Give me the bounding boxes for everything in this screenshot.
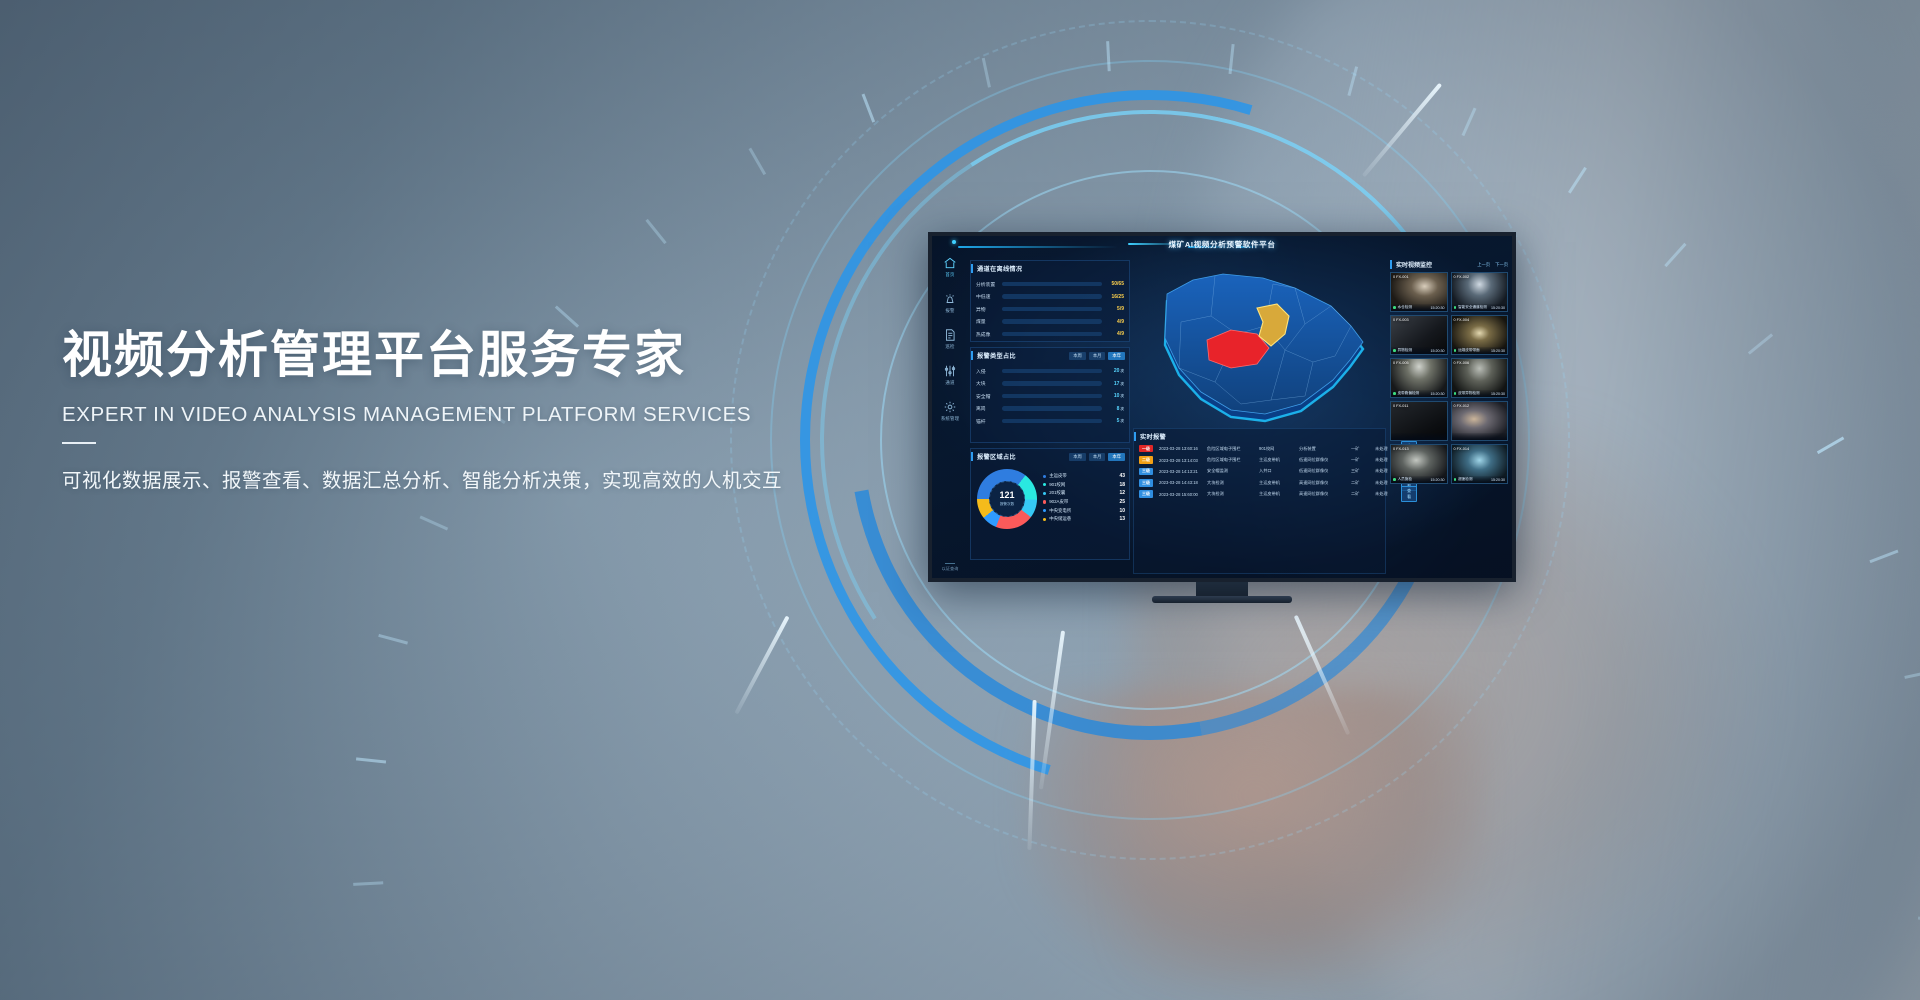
video-tile[interactable]: 0 FX-003异物检测15:20:30 xyxy=(1390,315,1448,355)
status-badge: 三级 xyxy=(1139,490,1153,498)
alarm-level-cell: 三级 xyxy=(1139,468,1159,476)
alarm-type-value: 8次 xyxy=(1102,406,1124,412)
legend-color-dot xyxy=(1043,509,1046,512)
video-camera-id: 0 FX-006 xyxy=(1454,361,1470,365)
video-tile-footer: 水仓检测15:20:30 xyxy=(1391,304,1447,311)
channel-online-track xyxy=(1002,294,1102,299)
alarm-type-track xyxy=(1002,369,1102,374)
legend-value: 13 xyxy=(1111,516,1125,522)
alarm-type-row: 离岗8次 xyxy=(971,405,1129,412)
alarm-location-cell: 主运皮带机 xyxy=(1259,491,1299,497)
alarm-device-cell: 低速网位群像仪 xyxy=(1299,457,1351,463)
video-timestamp: 15:20:30 xyxy=(1431,478,1445,482)
alarm-type-label: 大块 xyxy=(976,380,1002,387)
alarm-location-cell: 主运皮带机 xyxy=(1259,457,1299,463)
legend-label: 主运皮带 xyxy=(1049,473,1111,479)
alarm-type-label: 安全帽 xyxy=(976,393,1002,400)
table-row: 三级2023-03-28 15:60:00大块检测主运皮带机高速网位群像仪二矿未… xyxy=(1134,489,1385,500)
map-svg[interactable] xyxy=(1145,264,1375,424)
channel-online-label: 中低速 xyxy=(976,293,1002,300)
sidebar-label-system: 系统管理 xyxy=(932,416,968,422)
alarm-device-cell: 高速网位群像仪 xyxy=(1299,491,1351,497)
hud-tick xyxy=(749,148,767,175)
status-dot-icon xyxy=(1393,392,1396,395)
alarm-type-track xyxy=(1002,419,1102,424)
channel-online-track xyxy=(1002,332,1102,337)
monitor-bezel: 煤矿AI视频分析预警软件平台 首页 xyxy=(928,232,1516,582)
table-row: 三级2023-03-28 14:43:18大块检测主运皮带机高速网位群像仪二矿未… xyxy=(1134,477,1385,488)
region-map[interactable] xyxy=(1133,260,1386,425)
channel-icon xyxy=(943,364,957,378)
dashboard-screen: 煤矿AI视频分析预警软件平台 首页 xyxy=(932,236,1512,578)
alarm-device-cell: 分析装置 xyxy=(1299,446,1351,452)
alarm-mine-cell: 二矿 xyxy=(1351,480,1375,486)
channel-online-row: 异物5/9 xyxy=(971,306,1129,313)
left-panel-column: 通道在离线情况 分析装置50/65中低速16/25异物5/9煤量4/9热成像4/… xyxy=(970,260,1130,574)
sidebar-label-channel: 通道 xyxy=(932,380,968,386)
channel-online-track xyxy=(1002,282,1102,287)
alarm-type-label: 入侵 xyxy=(976,368,1002,375)
video-tag: 异物检测 xyxy=(1393,348,1412,353)
panel-realtime-alarm: 实时报警 一级2023-03-28 13:60:16危险区域电子围栏901绞网分… xyxy=(1133,428,1386,574)
hud-tick xyxy=(378,634,408,645)
hero-subtitle: EXPERT IN VIDEO ANALYSIS MANAGEMENT PLAT… xyxy=(62,403,822,427)
table-row: 三级2023-03-28 14:13:21安全帽监测入井口低速网位群像仪三矿未处… xyxy=(1134,466,1385,477)
channel-online-row: 中低速16/25 xyxy=(971,293,1129,300)
tab-alarm-type-本周[interactable]: 本周 xyxy=(1069,352,1086,360)
hud-tick xyxy=(645,219,666,244)
panel-header-alarm-type: 报警类型占比 本周本月本年 xyxy=(971,348,1129,362)
video-camera-id: 0 FX-003 xyxy=(1393,318,1409,322)
video-tile-footer: 皮带跑偏检测15:20:30 xyxy=(1391,390,1447,397)
alarm-type-value: 5次 xyxy=(1102,418,1124,424)
alarm-time-cell: 2023-03-28 14:13:21 xyxy=(1159,469,1207,474)
video-tag: 超速检测 xyxy=(1454,477,1473,482)
status-dot-icon xyxy=(1393,478,1396,481)
legend-value: 12 xyxy=(1111,490,1125,496)
video-camera-id: 0 FX-011 xyxy=(1393,404,1408,408)
sidebar-item-system[interactable]: 系统管理 xyxy=(932,400,968,422)
hero-title: 视频分析管理平台服务专家 xyxy=(62,326,822,385)
video-tile[interactable]: 0 FX-005皮带跑偏检测15:20:30 xyxy=(1390,358,1448,398)
tab-alarm-area-本月[interactable]: 本月 xyxy=(1089,453,1106,461)
video-camera-id: 0 FX-014 xyxy=(1454,447,1470,451)
legend-color-dot xyxy=(1043,500,1046,503)
alarm-type-cell: 危险区域电子围栏 xyxy=(1207,446,1259,452)
alarm-device-cell: 高速网位群像仪 xyxy=(1299,480,1351,486)
video-tile-footer: 智能安全通道检测15:20:30 xyxy=(1452,304,1508,311)
alarm-type-value: 17次 xyxy=(1102,381,1124,387)
channel-online-row: 煤量4/9 xyxy=(971,318,1129,325)
donut-legend-item: 201绞囊12 xyxy=(1043,490,1125,496)
video-tag: 皮带异物检测 xyxy=(1454,391,1480,396)
alarm-time-cell: 2023-03-28 15:60:00 xyxy=(1159,492,1207,497)
video-camera-id: 0 FX-001 xyxy=(1393,275,1409,279)
video-tile[interactable]: 0 FX-013人员施检15:20:30 xyxy=(1390,444,1448,484)
table-row: 一级2023-03-28 13:60:16危险区域电子围栏901绞网分析装置一矿… xyxy=(1134,443,1385,454)
panel-alarm-area: 报警区域占比 本周本月本年 121 报警次数 主运皮带43901绞网18201绞… xyxy=(970,448,1130,560)
channel-online-track xyxy=(1002,319,1102,324)
legend-label: 901绞网 xyxy=(1049,482,1111,488)
video-tile-footer xyxy=(1391,433,1447,440)
panel-title-realtime-alarm: 实时报警 xyxy=(1134,432,1166,441)
right-video-column: 实时视频监控 上一页 下一页 0 FX-001水仓检测15:20:300 FX-… xyxy=(1390,260,1508,574)
legend-label: 中央变电所 xyxy=(1049,508,1111,514)
video-next-page-button[interactable]: 下一页 xyxy=(1495,262,1508,268)
video-tile-footer: 运煤皮带带面15:20:30 xyxy=(1452,347,1508,354)
video-camera-id: 0 FX-013 xyxy=(1393,447,1409,451)
status-badge: 三级 xyxy=(1139,479,1153,487)
panel-channel-online: 通道在离线情况 分析装置50/65中低速16/25异物5/9煤量4/9热成像4/… xyxy=(970,260,1130,342)
alarm-location-cell: 入井口 xyxy=(1259,468,1299,474)
gear-icon xyxy=(943,400,957,414)
channel-online-label: 煤量 xyxy=(976,318,1002,325)
table-row: 二级2023-03-28 13:14:03危险区域电子围栏主运皮带机低速网位群像… xyxy=(1134,454,1385,465)
alarm-type-track xyxy=(1002,394,1102,399)
sidebar-footer[interactable]: 以证查询 xyxy=(932,563,968,572)
hero-description: 可视化数据展示、报警查看、数据汇总分析、智能分析决策，实现高效的人机交互 xyxy=(62,464,822,493)
tab-alarm-area-本周[interactable]: 本周 xyxy=(1069,453,1086,461)
video-tile[interactable]: 0 FX-006皮带异物检测15:20:30 xyxy=(1451,358,1509,398)
legend-value: 25 xyxy=(1111,499,1125,505)
video-tag: 皮带跑偏检测 xyxy=(1393,391,1419,396)
sidebar-item-alarm[interactable]: 报警 xyxy=(932,292,968,314)
channel-online-label: 异物 xyxy=(976,306,1002,313)
legend-label: 中央储运巷 xyxy=(1049,516,1111,522)
status-dot-icon xyxy=(1454,306,1457,309)
video-tile[interactable]: 0 FX-001水仓检测15:20:30 xyxy=(1390,272,1448,312)
alarm-icon xyxy=(943,292,957,306)
channel-online-value: 4/9 xyxy=(1102,319,1124,325)
alarm-type-row: 大块17次 xyxy=(971,380,1129,387)
alarm-type-cell: 危险区域电子围栏 xyxy=(1207,457,1259,463)
channel-online-value: 16/25 xyxy=(1102,294,1124,300)
donut-chart: 121 报警次数 xyxy=(977,469,1037,529)
tab-alarm-type-本月[interactable]: 本月 xyxy=(1089,352,1106,360)
hud-streak-1 xyxy=(734,615,789,714)
alarm-type-track xyxy=(1002,406,1102,411)
hud-tick xyxy=(555,305,579,327)
legend-color-dot xyxy=(1043,475,1046,478)
donut-total-caption: 报警次数 xyxy=(1000,502,1014,507)
channel-online-label: 分析装置 xyxy=(976,281,1002,288)
alarm-area-tab-group[interactable]: 本周本月本年 xyxy=(1069,453,1125,461)
panel-title-video: 实时视频监控 xyxy=(1390,260,1432,269)
video-tag: 智能安全通道检测 xyxy=(1454,305,1487,310)
hud-tick xyxy=(1106,41,1111,71)
video-camera-id: 0 FX-002 xyxy=(1454,275,1470,279)
alarm-level-cell: 三级 xyxy=(1139,490,1159,498)
status-dot-icon xyxy=(1454,349,1457,352)
video-timestamp: 15:20:30 xyxy=(1491,306,1505,310)
donut-legend-item: 主运皮带43 xyxy=(1043,473,1125,479)
video-timestamp: 15:20:30 xyxy=(1491,478,1505,482)
dashboard-title: 煤矿AI视频分析预警软件平台 xyxy=(1168,239,1275,250)
dashboard-sidebar[interactable]: 首页 报警 巡检 xyxy=(932,242,968,578)
donut-legend-item: 中央变电所10 xyxy=(1043,508,1125,514)
panel-title-channel-online: 通道在离线情况 xyxy=(971,264,1022,273)
tab-alarm-type-本年[interactable]: 本年 xyxy=(1108,352,1125,360)
video-tile[interactable]: 0 FX-011 xyxy=(1390,401,1448,441)
sidebar-label-inspection: 巡检 xyxy=(932,344,968,350)
alarm-mine-cell: 一矿 xyxy=(1351,446,1375,452)
video-camera-id: 0 FX-012 xyxy=(1454,404,1470,408)
alarm-mine-cell: 三矿 xyxy=(1351,468,1375,474)
alarm-type-row: 锚杆5次 xyxy=(971,418,1129,425)
status-badge: 一级 xyxy=(1139,445,1153,453)
alarm-type-tab-group[interactable]: 本周本月本年 xyxy=(1069,352,1125,360)
channel-online-value: 50/65 xyxy=(1102,281,1124,287)
channel-online-row: 热成像4/9 xyxy=(971,331,1129,338)
sidebar-label-alarm: 报警 xyxy=(932,308,968,314)
panel-title-alarm-area: 报警区域占比 xyxy=(971,452,1016,461)
channel-online-value: 4/9 xyxy=(1102,331,1124,337)
donut-total-value: 121 xyxy=(999,491,1014,500)
center-column: 实时报警 一级2023-03-28 13:60:16危险区域电子围栏901绞网分… xyxy=(1133,260,1386,574)
alarm-level-cell: 二级 xyxy=(1139,456,1159,464)
video-tile-footer: 皮带异物检测15:20:30 xyxy=(1452,390,1508,397)
hero-banner: 视频分析管理平台服务专家 EXPERT IN VIDEO ANALYSIS MA… xyxy=(0,0,1920,1000)
status-badge: 三级 xyxy=(1139,468,1153,476)
alarm-mine-cell: 二矿 xyxy=(1351,491,1375,497)
video-tag: 人员施检 xyxy=(1393,477,1412,482)
video-tile[interactable]: 0 FX-004运煤皮带带面15:20:30 xyxy=(1451,315,1509,355)
alarm-area-chart-wrap: 121 报警次数 主运皮带43901绞网18201绞囊12902A皮带25中央变… xyxy=(971,463,1129,529)
video-timestamp: 15:20:30 xyxy=(1431,392,1445,396)
alarm-type-cell: 安全帽监测 xyxy=(1207,468,1259,474)
legend-color-dot xyxy=(1043,518,1046,521)
legend-value: 18 xyxy=(1111,482,1125,488)
alarm-type-row: 入侵20次 xyxy=(971,368,1129,375)
legend-label: 902A皮带 xyxy=(1049,499,1111,505)
alarm-type-bar-list: 入侵20次大块17次安全帽10次离岗8次锚杆5次 xyxy=(971,368,1129,425)
background-person-hand xyxy=(1020,690,1490,990)
video-tile[interactable]: 0 FX-012 xyxy=(1451,401,1509,441)
status-badge: 二级 xyxy=(1139,456,1153,464)
hud-tick xyxy=(356,757,386,763)
video-tag: 水仓检测 xyxy=(1393,305,1412,310)
hero-text-block: 视频分析管理平台服务专家 EXPERT IN VIDEO ANALYSIS MA… xyxy=(62,326,822,493)
sidebar-item-home[interactable]: 首页 xyxy=(932,256,968,278)
alarm-type-value: 10次 xyxy=(1102,393,1124,399)
video-camera-id: 0 FX-004 xyxy=(1454,318,1470,322)
legend-color-dot xyxy=(1043,483,1046,486)
video-pagination[interactable]: 上一页 下一页 xyxy=(1477,262,1508,268)
alarm-time-cell: 2023-03-28 13:14:03 xyxy=(1159,458,1207,463)
monitor-stand-base xyxy=(1152,596,1292,603)
alarm-type-value: 20次 xyxy=(1102,368,1124,374)
sidebar-footer-label: 以证查询 xyxy=(932,566,968,572)
hero-divider xyxy=(62,442,96,444)
hud-tick xyxy=(353,881,383,886)
alarm-location-cell: 主运皮带机 xyxy=(1259,480,1299,486)
channel-online-bar-list: 分析装置50/65中低速16/25异物5/9煤量4/9热成像4/9 xyxy=(971,281,1129,338)
alarm-type-cell: 大块检测 xyxy=(1207,480,1259,486)
video-tile[interactable]: 0 FX-002智能安全通道检测15:20:30 xyxy=(1451,272,1509,312)
channel-online-row: 分析装置50/65 xyxy=(971,281,1129,288)
hud-tick xyxy=(1229,44,1235,74)
video-timestamp: 15:20:30 xyxy=(1491,392,1505,396)
legend-value: 43 xyxy=(1111,473,1125,479)
panel-header-channel-online: 通道在离线情况 xyxy=(971,261,1129,275)
hud-tick xyxy=(420,516,449,531)
video-tile-footer: 超速检测15:20:30 xyxy=(1452,476,1508,483)
alarm-type-label: 离岗 xyxy=(976,405,1002,412)
status-dot-icon xyxy=(1393,306,1396,309)
panel-header-realtime-alarm: 实时报警 xyxy=(1134,429,1385,443)
donut-legend-item: 902A皮带25 xyxy=(1043,499,1125,505)
alarm-type-track xyxy=(1002,381,1102,386)
video-tile-footer xyxy=(1452,433,1508,440)
alarm-type-cell: 大块检测 xyxy=(1207,491,1259,497)
legend-value: 10 xyxy=(1111,508,1125,514)
inspection-icon xyxy=(943,328,957,342)
video-timestamp: 15:20:30 xyxy=(1431,349,1445,353)
channel-online-track xyxy=(1002,307,1102,312)
donut-legend-item: 中央储运巷13 xyxy=(1043,516,1125,522)
legend-label: 201绞囊 xyxy=(1049,490,1111,496)
panel-title-alarm-type: 报警类型占比 xyxy=(971,351,1016,360)
video-tile-footer: 人员施检15:20:30 xyxy=(1391,476,1447,483)
alarm-level-cell: 三级 xyxy=(1139,479,1159,487)
sidebar-label-home: 首页 xyxy=(932,272,968,278)
video-tag: 运煤皮带带面 xyxy=(1454,348,1480,353)
alarm-location-cell: 901绞网 xyxy=(1259,446,1299,452)
channel-online-value: 5/9 xyxy=(1102,306,1124,312)
video-camera-id: 0 FX-005 xyxy=(1393,361,1409,365)
donut-legend: 主运皮带43901绞网18201绞囊12902A皮带25中央变电所10中央储运巷… xyxy=(1037,473,1125,525)
legend-color-dot xyxy=(1043,492,1046,495)
hud-tick xyxy=(862,93,876,122)
sidebar-item-channel[interactable]: 通道 xyxy=(932,364,968,386)
home-icon xyxy=(943,256,957,270)
hud-tick xyxy=(982,58,991,88)
alarm-time-cell: 2023-03-28 14:43:18 xyxy=(1159,480,1207,485)
status-dot-icon xyxy=(1454,478,1457,481)
video-tile-footer: 异物检测15:20:30 xyxy=(1391,347,1447,354)
video-panel-header: 实时视频监控 上一页 下一页 xyxy=(1390,260,1508,269)
alarm-level-cell: 一级 xyxy=(1139,445,1159,453)
alarm-time-cell: 2023-03-28 13:60:16 xyxy=(1159,446,1207,451)
alarm-type-row: 安全帽10次 xyxy=(971,393,1129,400)
panel-header-alarm-area: 报警区域占比 本周本月本年 xyxy=(971,449,1129,463)
dashboard-header: 煤矿AI视频分析预警软件平台 xyxy=(932,236,1512,258)
video-tile[interactable]: 0 FX-014超速检测15:20:30 xyxy=(1451,444,1509,484)
video-timestamp: 15:20:30 xyxy=(1491,349,1505,353)
video-grid: 0 FX-001水仓检测15:20:300 FX-002智能安全通道检测15:2… xyxy=(1390,272,1508,484)
alarm-mine-cell: 一矿 xyxy=(1351,457,1375,463)
channel-online-label: 热成像 xyxy=(976,331,1002,338)
panel-alarm-type: 报警类型占比 本周本月本年 入侵20次大块17次安全帽10次离岗8次锚杆5次 xyxy=(970,347,1130,443)
realtime-alarm-table: 一级2023-03-28 13:60:16危险区域电子围栏901绞网分析装置一矿… xyxy=(1134,443,1385,500)
video-prev-page-button[interactable]: 上一页 xyxy=(1477,262,1490,268)
status-dot-icon xyxy=(1393,349,1396,352)
video-timestamp: 15:20:30 xyxy=(1431,306,1445,310)
alarm-device-cell: 低速网位群像仪 xyxy=(1299,468,1351,474)
sidebar-footer-divider xyxy=(945,563,955,564)
donut-center: 121 报警次数 xyxy=(989,481,1025,517)
header-line-1 xyxy=(958,246,1118,248)
tab-alarm-area-本年[interactable]: 本年 xyxy=(1108,453,1125,461)
alarm-type-label: 锚杆 xyxy=(976,418,1002,425)
sidebar-item-inspection[interactable]: 巡检 xyxy=(932,328,968,350)
status-dot-icon xyxy=(1454,392,1457,395)
donut-legend-item: 901绞网18 xyxy=(1043,482,1125,488)
